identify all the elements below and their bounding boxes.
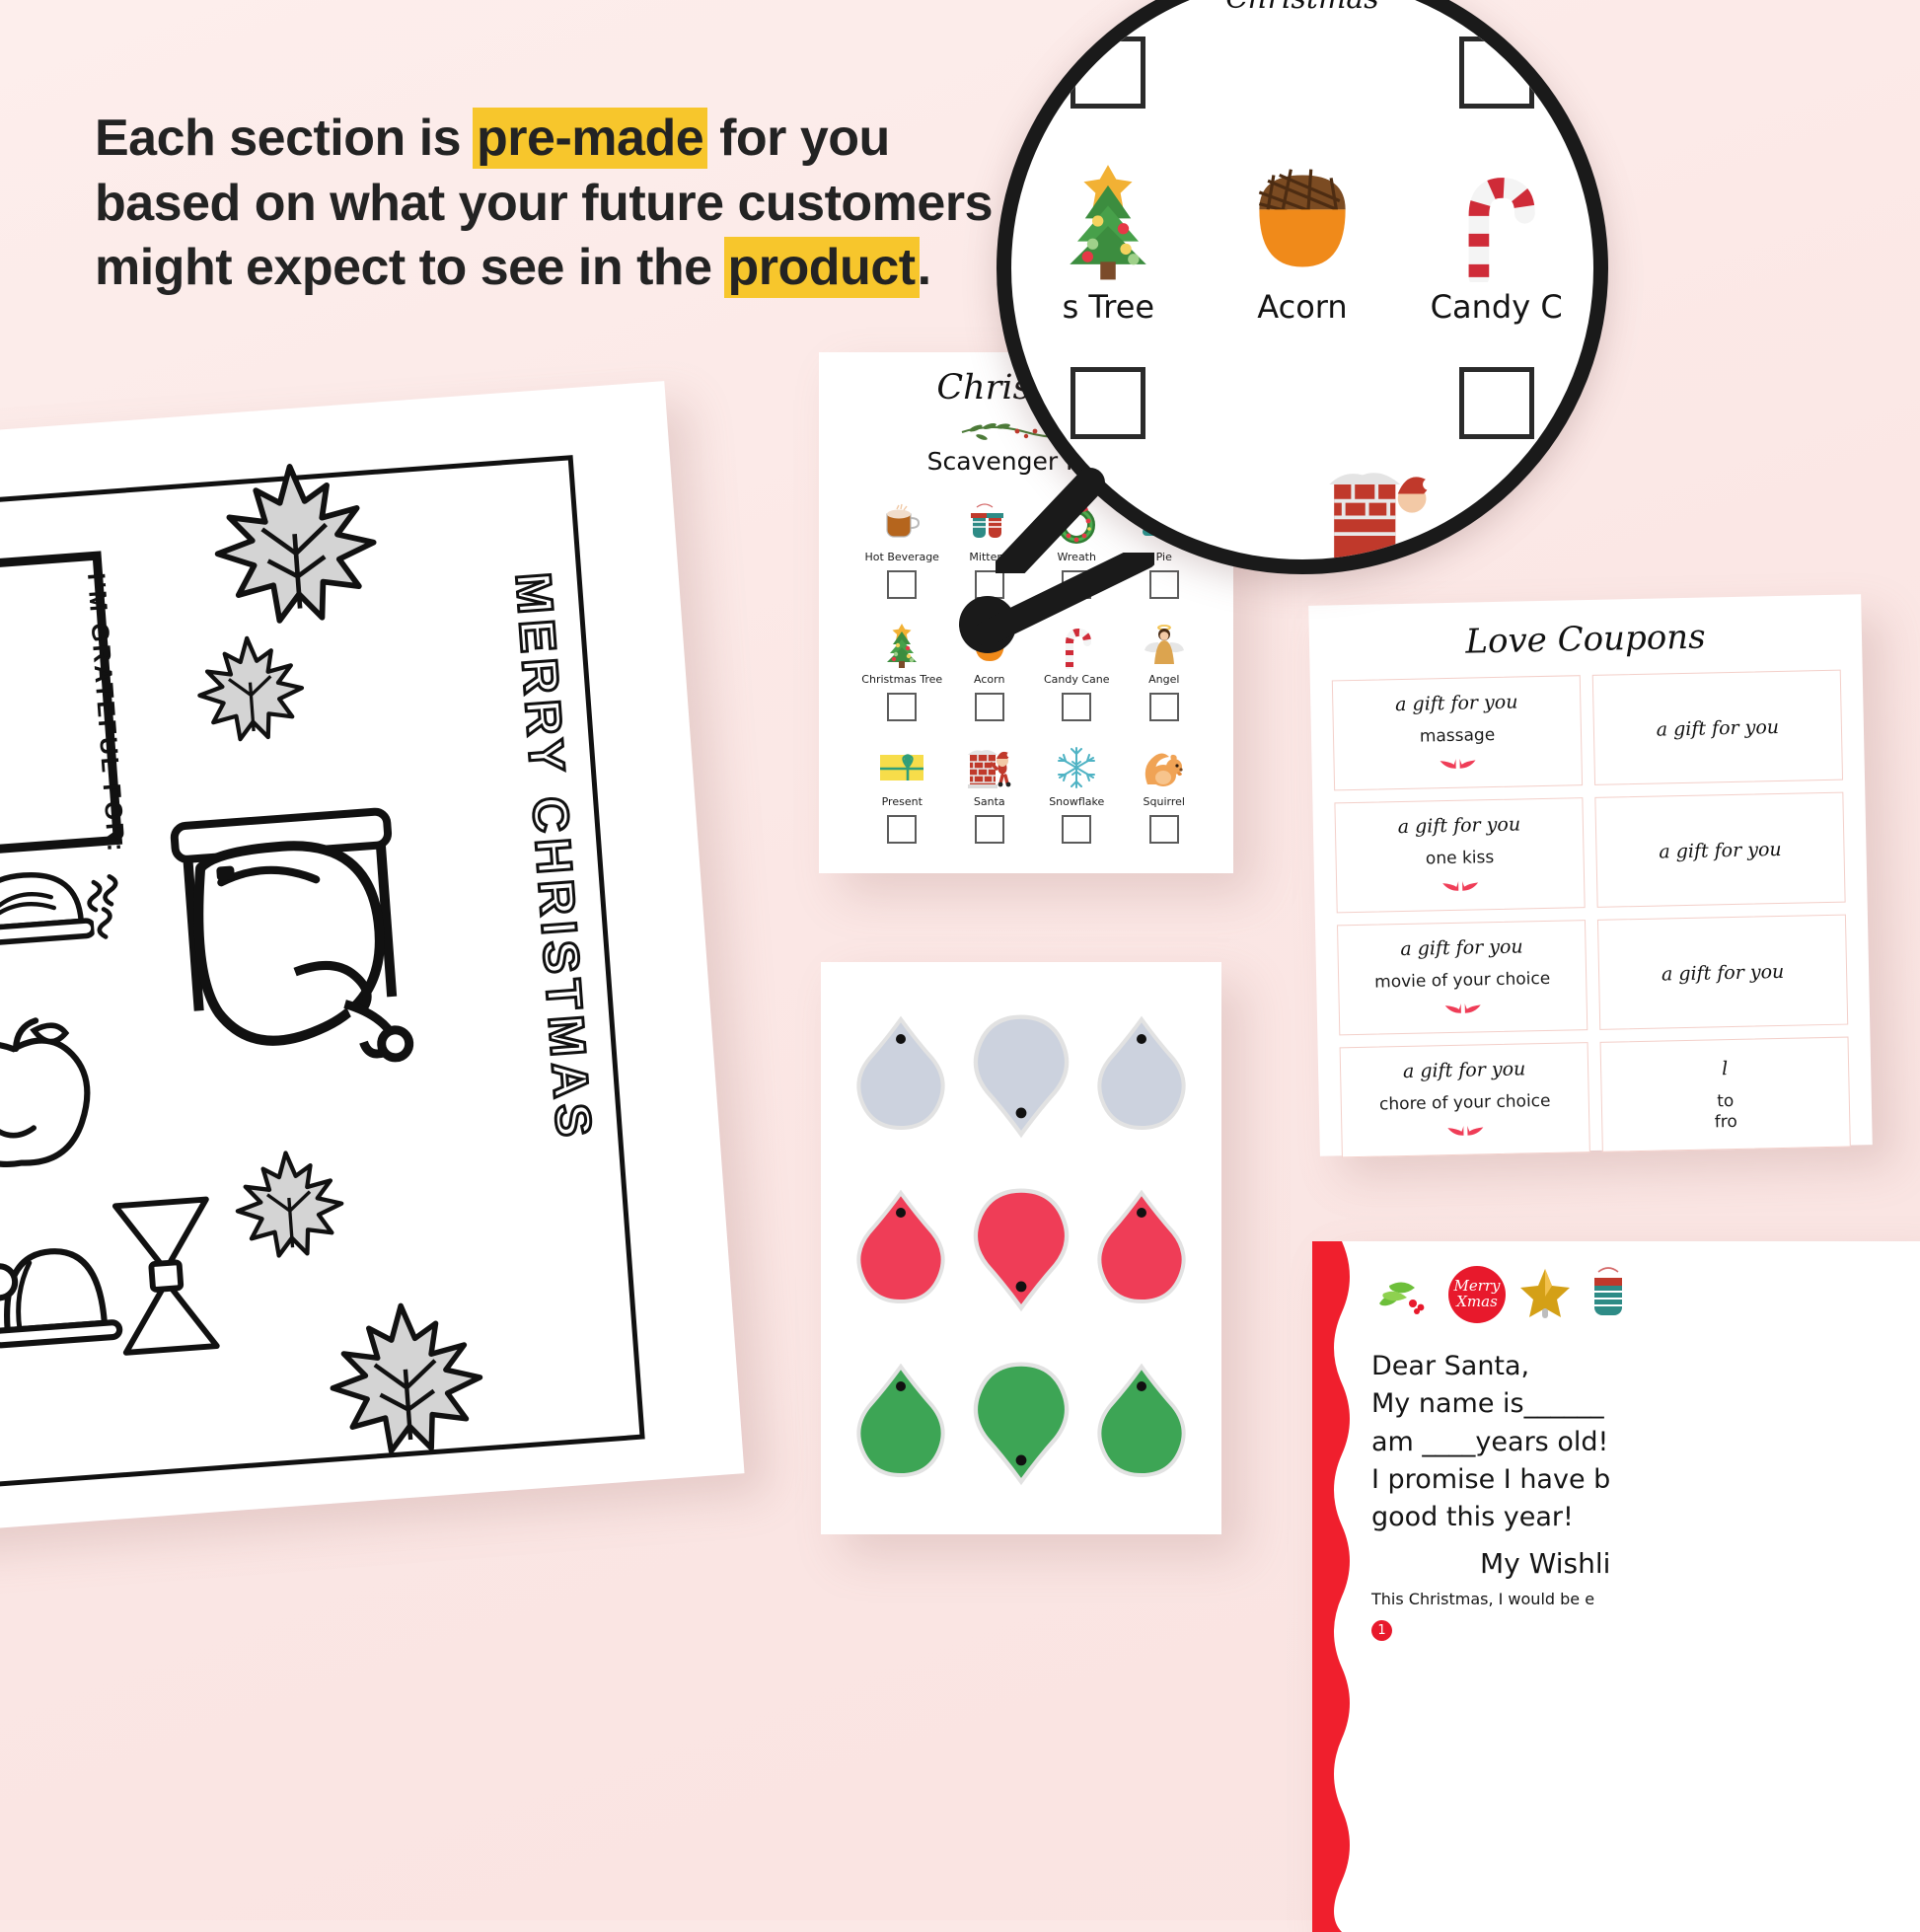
holly-icon [1373,1270,1437,1319]
coupon-heading: a gift for you [1403,1058,1526,1082]
coupon-card[interactable]: a gift for you [1594,792,1845,908]
coupon-card[interactable]: a gift for you massage [1332,675,1583,790]
snowflake-icon [1051,743,1102,792]
scavenger-checkbox[interactable] [1149,570,1179,599]
headline-text: for you [705,110,890,167]
scavenger-checkbox[interactable] [1062,815,1091,844]
scavenger-label: Candy Cane [1044,673,1110,686]
coupon-heading: a gift for you [1400,935,1523,960]
headline-highlight-premade: pre-made [475,110,705,167]
scavenger-label: Santa [974,795,1005,808]
scavenger-item[interactable]: Christmas Tree [858,621,946,721]
coupon-heading: l [1722,1058,1729,1079]
scavenger-label: Snowflake [1049,795,1104,808]
merry-xmas-badge: Merry Xmas [1448,1266,1506,1323]
letter-age-line[interactable]: am ____years old! [1371,1424,1914,1461]
coupon-body: movie of your choice [1374,969,1550,994]
maple-leaf-icon [317,1290,496,1469]
scavenger-checkbox[interactable] [1062,693,1091,721]
maple-leaf-icon [200,450,391,640]
letter-greeting: Dear Santa, [1371,1348,1914,1385]
birds-icon [1443,1001,1483,1020]
love-coupons-grid: a gift for you massage a gift for you a … [1332,670,1851,1158]
maple-leaf-icon [226,1142,352,1268]
christmas-tree-icon [876,621,927,670]
scavenger-item[interactable]: Santa [946,743,1034,844]
scavenger-label: Present [882,795,923,808]
steam-icon [77,870,141,943]
magnified-checkbox[interactable] [1459,37,1534,109]
magnified-item[interactable]: Candy C [1431,160,1563,326]
coupon-card[interactable]: a gift for you [1597,915,1848,1030]
squirrel-icon [1139,743,1190,792]
letter-decor-icons: Merry Xmas [1373,1265,1634,1324]
present-icon [876,743,927,792]
acorn-icon [1240,160,1365,282]
headline-line-1: Each section is pre-made for you [95,107,1012,172]
scavenger-checkbox[interactable] [1149,693,1179,721]
hot-beverage-icon [876,498,927,548]
birds-icon [1440,878,1480,898]
wishlist-intro: This Christmas, I would be e [1371,1590,1914,1608]
mitten-ornament-icon [1585,1266,1634,1323]
page-headline: Each section is pre-made for you based o… [95,107,1012,301]
dear-santa-letter-sheet[interactable]: Merry Xmas Dear Santa, My name is______ … [1312,1241,1920,1932]
scavenger-label: Angel [1148,673,1179,686]
scavenger-checkbox[interactable] [887,815,917,844]
magnified-script-title: Christmas [1225,0,1378,16]
letter-good-line: good this year! [1371,1499,1914,1536]
letter-promise-line: I promise I have b [1371,1461,1914,1499]
candy-cane-icon [1051,621,1102,670]
coupon-card[interactable]: a gift for you one kiss [1334,797,1585,913]
candy-cane-icon [1435,160,1559,282]
coupon-heading: a gift for you [1659,839,1782,863]
coupon-card[interactable]: a gift for you movie of your choice [1337,920,1588,1035]
magnified-content: Christmas [1011,0,1593,559]
scavenger-checkbox[interactable] [975,570,1004,599]
headline-text: . [918,239,931,296]
magnified-icon-row: s Tree [1011,160,1593,326]
wavy-edge-decoration [1312,1241,1358,1932]
magnified-checkbox[interactable] [1071,37,1145,109]
scavenger-item[interactable]: Hot Beverage [858,498,946,599]
santa-chimney-icon [964,743,1015,792]
magnified-label: s Tree [1063,288,1155,326]
coupon-body: chore of your choice [1379,1091,1551,1116]
roast-turkey-icon [155,766,435,1119]
ornament-tag[interactable] [848,1187,954,1309]
ornament-tag-grid [841,988,1202,1509]
ornament-tag[interactable] [963,1356,1079,1488]
ornament-tag[interactable] [1088,1361,1195,1483]
scavenger-label: Acorn [974,673,1004,686]
birds-icon [1438,756,1477,776]
coupon-heading: a gift for you [1395,691,1518,715]
coupon-card[interactable]: a gift for you chore of your choice [1340,1042,1590,1157]
coupon-body: to fro [1714,1091,1737,1134]
ornament-tag[interactable] [848,1013,954,1136]
coupon-heading: a gift for you [1398,813,1521,838]
coupon-heading: a gift for you [1657,716,1780,741]
scavenger-checkbox[interactable] [1062,570,1091,599]
magnifier-overlay: Christmas [997,0,1608,574]
coupon-card[interactable]: a gift for you [1592,670,1843,785]
apple-icon [0,1006,109,1176]
headline-text: Each section is [95,110,475,167]
coupon-body: massage [1420,725,1496,748]
wishlist-heading: My Wishli [1480,1547,1914,1580]
scavenger-item[interactable]: Present [858,743,946,844]
magnified-item[interactable]: Acorn [1240,160,1365,326]
magnified-label: Candy C [1431,288,1563,326]
scavenger-label: Hot Beverage [865,551,939,563]
love-coupons-title: Love Coupons [1309,614,1863,665]
scavenger-item[interactable]: Candy Cane [1033,621,1121,721]
scavenger-checkbox[interactable] [887,570,917,599]
scavenger-checkbox[interactable] [1149,815,1179,844]
christmas-tree-icon [1046,160,1170,282]
coupon-heading: a gift for you [1662,961,1785,986]
magnified-item[interactable]: s Tree [1046,160,1170,326]
magnified-checkbox-row-bottom [1011,367,1593,439]
headline-line-3: might expect to see in the product. [95,236,1012,301]
maple-leaf-icon [188,627,313,751]
magnified-checkbox[interactable] [1071,367,1145,439]
headline-highlight-product: product [726,239,918,296]
santa-chimney-icon [1307,461,1455,574]
love-coupons-sheet[interactable]: Love Coupons a gift for you massage a gi… [1308,594,1873,1156]
magnified-checkbox-row-top [1011,37,1593,109]
magnifier-lens: Christmas [997,0,1608,574]
scavenger-checkbox[interactable] [975,693,1004,721]
coupon-body: one kiss [1426,848,1495,870]
scavenger-item[interactable]: Snowflake [1033,743,1121,844]
headline-line-2: based on what your future customers [95,172,1012,237]
scavenger-item[interactable]: Angel [1121,621,1209,721]
poster-canvas: Each section is pre-made for you based o… [0,0,1920,1920]
scavenger-label: Squirrel [1144,795,1185,808]
letter-body: Dear Santa, My name is______ am ____year… [1371,1348,1914,1641]
star-icon [1517,1265,1573,1324]
ornament-tag[interactable] [1088,1013,1195,1136]
scavenger-item[interactable]: Squirrel [1121,743,1209,844]
ornament-tag[interactable] [963,1182,1079,1314]
scavenger-checkbox[interactable] [887,693,917,721]
magnifier-pointer-knob [959,596,1016,653]
ornament-tags-sheet[interactable] [821,962,1221,1534]
coupon-card[interactable]: l to fro [1600,1037,1851,1152]
magnified-checkbox[interactable] [1459,367,1534,439]
ornament-tag[interactable] [1088,1187,1195,1309]
bow-icon [96,1185,237,1372]
magnified-label: Acorn [1257,288,1347,326]
birds-icon [1445,1123,1485,1143]
scavenger-checkbox[interactable] [975,815,1004,844]
wishlist-item-number: 1 [1371,1620,1392,1641]
scavenger-label: Christmas Tree [861,673,942,686]
letter-name-line[interactable]: My name is______ [1371,1385,1914,1423]
placemat-coloring-sheet[interactable]: I'M GRATEFUL FOR: MERRY CHRISTMAS [0,381,745,1533]
ornament-tag[interactable] [963,1008,1079,1141]
ornament-tag[interactable] [848,1361,954,1483]
angel-icon [1139,621,1190,670]
headline-text: might expect to see in the [95,239,726,296]
